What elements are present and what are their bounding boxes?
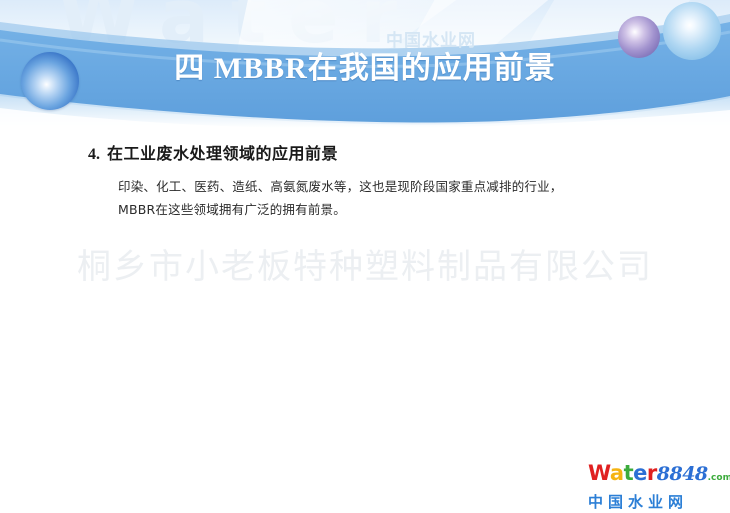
header-banner: Water [0,0,730,128]
company-watermark: 桐乡市小老板特种塑料制品有限公司 [0,246,730,288]
logo-subtitle: 中国水业网 [588,492,724,512]
bullet-item-4: 4.在工业废水处理领域的应用前景 [0,140,730,164]
bullet-number: 4. [88,146,100,163]
banner-secondary-watermark: 中国水业网 [386,26,476,51]
logo-letter-t: t [624,461,634,485]
logo-letter-a: a [610,461,624,485]
paragraph-line-2: MBBR在这些领域拥有广泛的拥有前景。 [118,198,660,221]
logo-wordmark: Water8848.com [588,462,724,490]
slide-canvas: Water [0,0,730,513]
page-title: 四 MBBR在我国的应用前景 [0,50,730,88]
bullet-heading: 在工业废水处理领域的应用前景 [107,144,338,163]
paragraph-line-1: 印染、化工、医药、造纸、高氨氮废水等，这也是现阶段国家重点减排的行业， [118,175,660,198]
logo-tld: .com [708,473,730,483]
slide-content: 4.在工业废水处理领域的应用前景 印染、化工、医药、造纸、高氨氮废水等，这也是现… [0,140,730,221]
site-logo[interactable]: Water8848.com 中国水业网 [588,462,724,512]
logo-letter-r: r [647,461,657,485]
logo-letter-e: e [633,461,647,485]
logo-number: 8848 [657,463,708,485]
logo-letter-w: W [588,461,610,485]
body-paragraph: 印染、化工、医药、造纸、高氨氮废水等，这也是现阶段国家重点减排的行业， MBBR… [0,175,730,221]
